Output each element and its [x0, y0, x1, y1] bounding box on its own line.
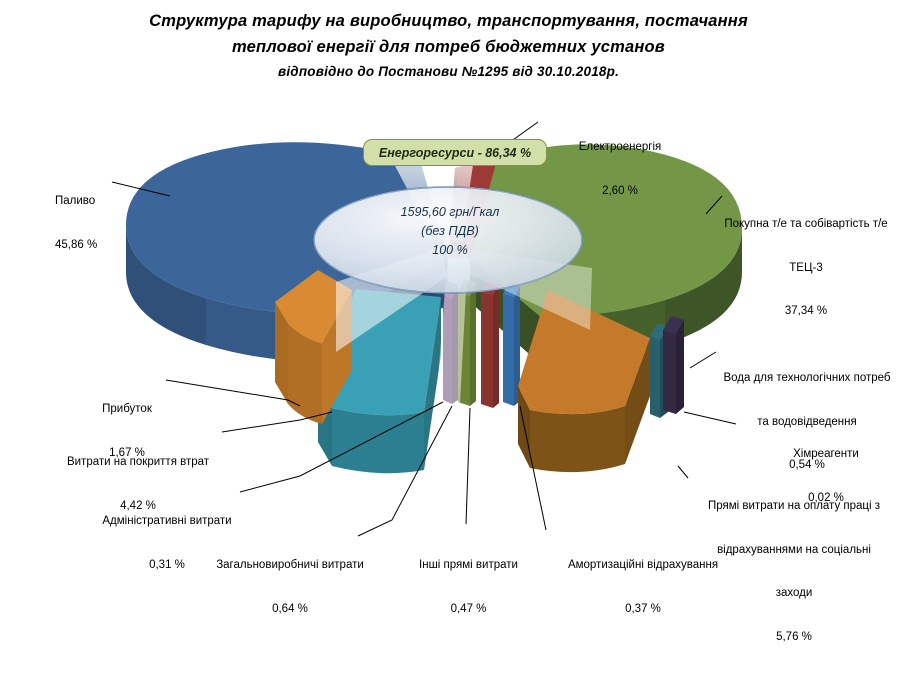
label-fuel-value: 45,86 %: [55, 238, 97, 253]
label-amortization-value: 0,37 %: [548, 602, 738, 617]
label-amortization-name: Амортизаційні відрахування: [548, 558, 738, 573]
energy-resources-callout[interactable]: Енергоресурси - 86,34 %: [363, 139, 547, 166]
label-chemicals-name: Хімреагенти: [756, 447, 896, 462]
label-profit: Прибуток 1,67 %: [88, 373, 166, 489]
label-electricity-value: 2,60 %: [540, 184, 700, 199]
label-fuel-name: Паливо: [55, 194, 97, 209]
label-labor-name: Прямі витрати на оплату праці з: [694, 499, 894, 514]
slice-amortization[interactable]: [503, 282, 520, 406]
label-purchased-heat-name2: ТЕЦ-3: [716, 261, 896, 276]
chart-canvas: Структура тарифу на виробництво, транспо…: [0, 0, 897, 584]
label-overhead-value: 0,64 %: [200, 602, 380, 617]
slice-other-direct[interactable]: [481, 279, 499, 408]
label-amortization: Амортизаційні відрахування 0,37 %: [548, 529, 738, 645]
label-profit-name: Прибуток: [88, 402, 166, 417]
label-electricity-name: Електроенергія: [540, 140, 700, 155]
slice-water[interactable]: [663, 316, 684, 414]
label-admin-value: 0,31 %: [92, 558, 242, 573]
label-electricity: Електроенергія 2,60 %: [540, 111, 700, 227]
label-other-direct-name: Інші прямі витрати: [396, 558, 541, 573]
label-other-direct-value: 0,47 %: [396, 602, 541, 617]
label-water-name: Вода для технологічних потреб: [718, 371, 896, 386]
label-other-direct: Інші прямі витрати 0,47 %: [396, 529, 541, 645]
label-profit-value: 1,67 %: [88, 446, 166, 461]
label-purchased-heat: Покупна т/е та собівартість т/е ТЕЦ-3 37…: [716, 188, 896, 348]
label-purchased-heat-value: 37,34 %: [716, 304, 896, 319]
label-purchased-heat-name: Покупна т/е та собівартість т/е: [716, 217, 896, 232]
label-fuel: Паливо 45,86 %: [55, 165, 97, 281]
label-losses-value: 4,42 %: [52, 499, 224, 514]
